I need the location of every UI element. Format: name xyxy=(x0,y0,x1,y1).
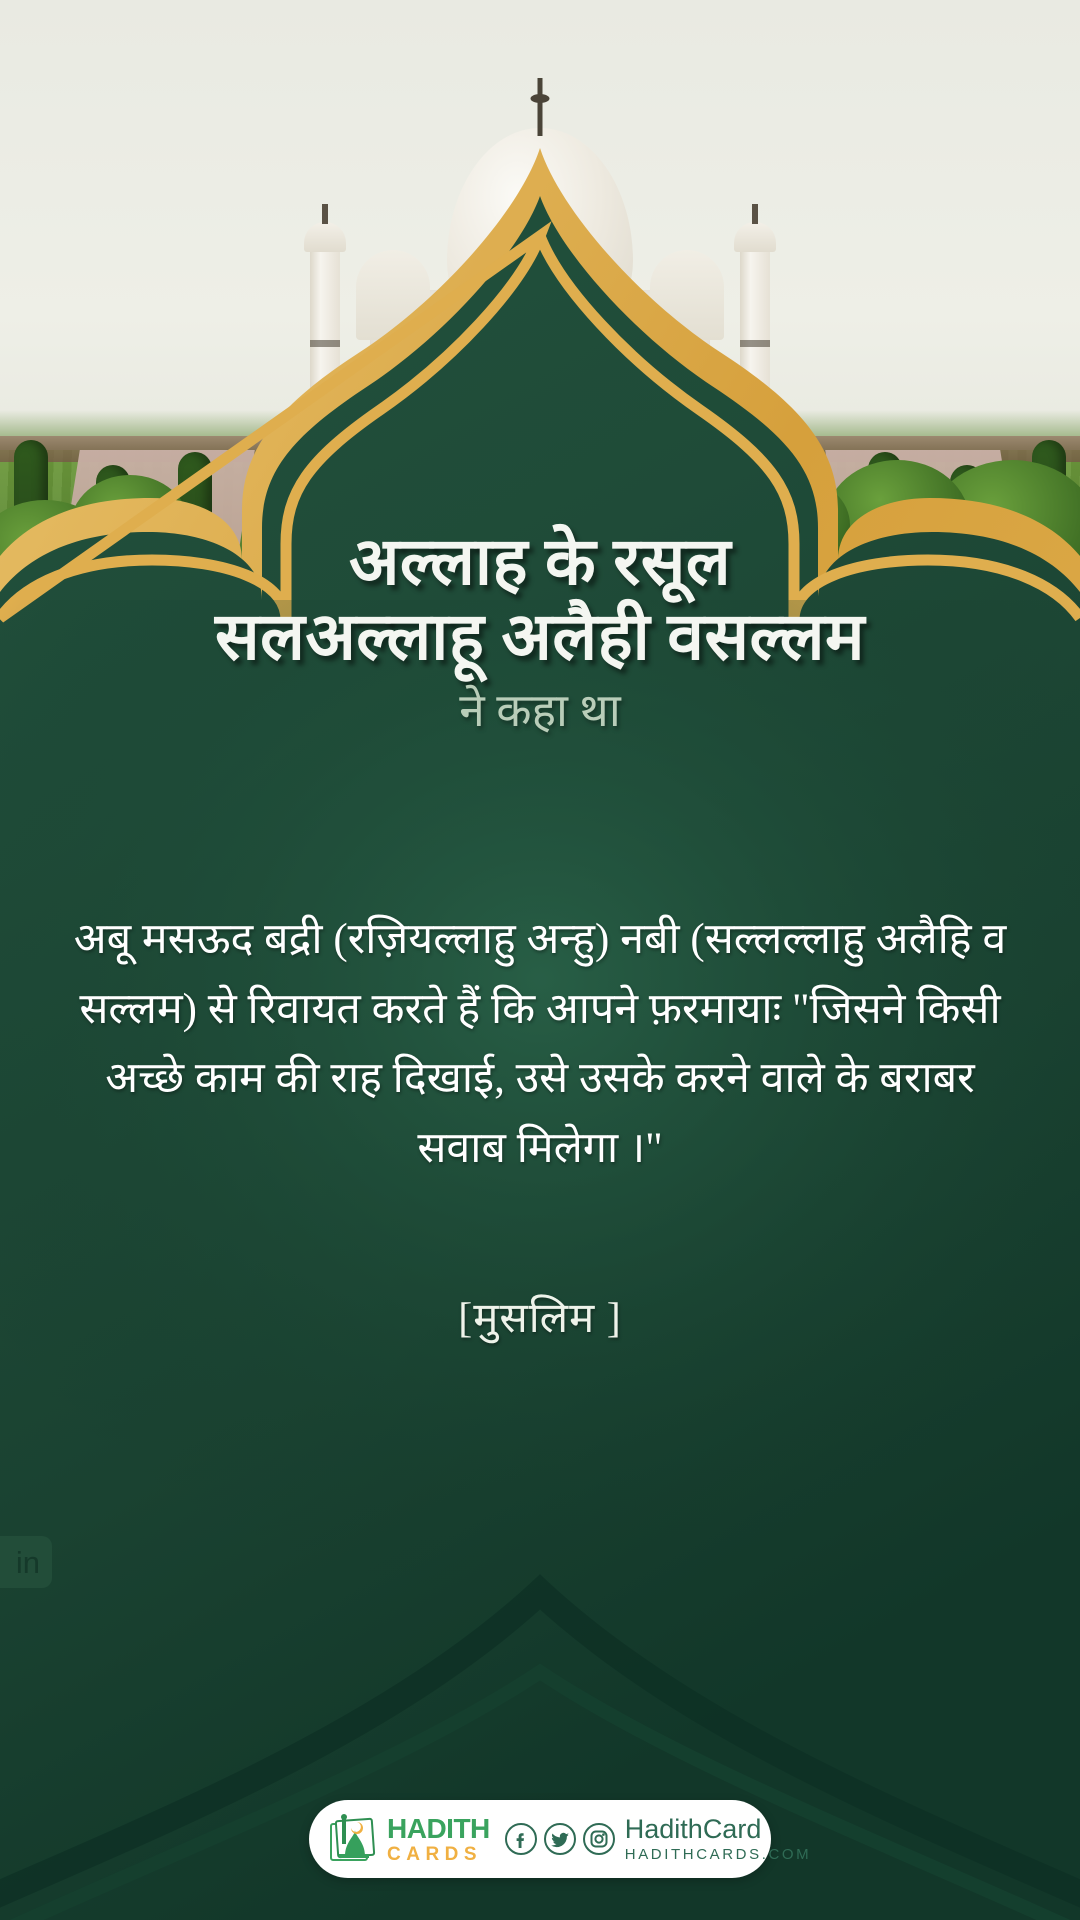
linkedin-icon: in xyxy=(16,1547,40,1578)
hadith-text: अबू मसऊद बद्री (रज़ियल्लाहु अन्हु) नबी (… xyxy=(62,905,1018,1184)
heading-line-1: अल्लाह के रसूल xyxy=(0,525,1080,600)
card-content: अल्लाह के रसूल सलअल्लाहू अलैही वसल्लम ने… xyxy=(0,0,1080,1920)
logo-word-hadith: HADITH xyxy=(387,1815,490,1843)
mosque-photo-logo-icon xyxy=(327,1812,381,1866)
footer-handle: HadithCard xyxy=(625,1816,812,1843)
hadith-card: अल्लाह के रसूल सलअल्लाहू अलैही वसल्लम ने… xyxy=(0,0,1080,1920)
card-heading: अल्लाह के रसूल सलअल्लाहू अलैही वसल्लम ने… xyxy=(0,525,1080,741)
footer-website: HADITHCARDS.COM xyxy=(625,1847,812,1862)
heading-line-3: ने कहा था xyxy=(0,681,1080,741)
facebook-icon[interactable] xyxy=(504,1822,538,1856)
logo-wordmark: HADITH CARDS xyxy=(387,1815,490,1864)
logo-word-cards: CARDS xyxy=(387,1845,490,1864)
footer-brand-bar[interactable]: HADITH CARDS xyxy=(309,1800,771,1878)
linkedin-share-badge[interactable]: in xyxy=(0,1536,52,1588)
hadith-source: [मुसलिम ] xyxy=(0,1288,1080,1345)
social-icons[interactable] xyxy=(504,1822,616,1856)
footer-handle-block: HadithCard HADITHCARDS.COM xyxy=(625,1816,812,1862)
twitter-icon[interactable] xyxy=(543,1822,577,1856)
instagram-icon[interactable] xyxy=(582,1822,616,1856)
heading-line-2: सलअल्लाहू अलैही वसल्लम xyxy=(0,600,1080,675)
hadithcards-logo: HADITH CARDS xyxy=(327,1812,490,1866)
